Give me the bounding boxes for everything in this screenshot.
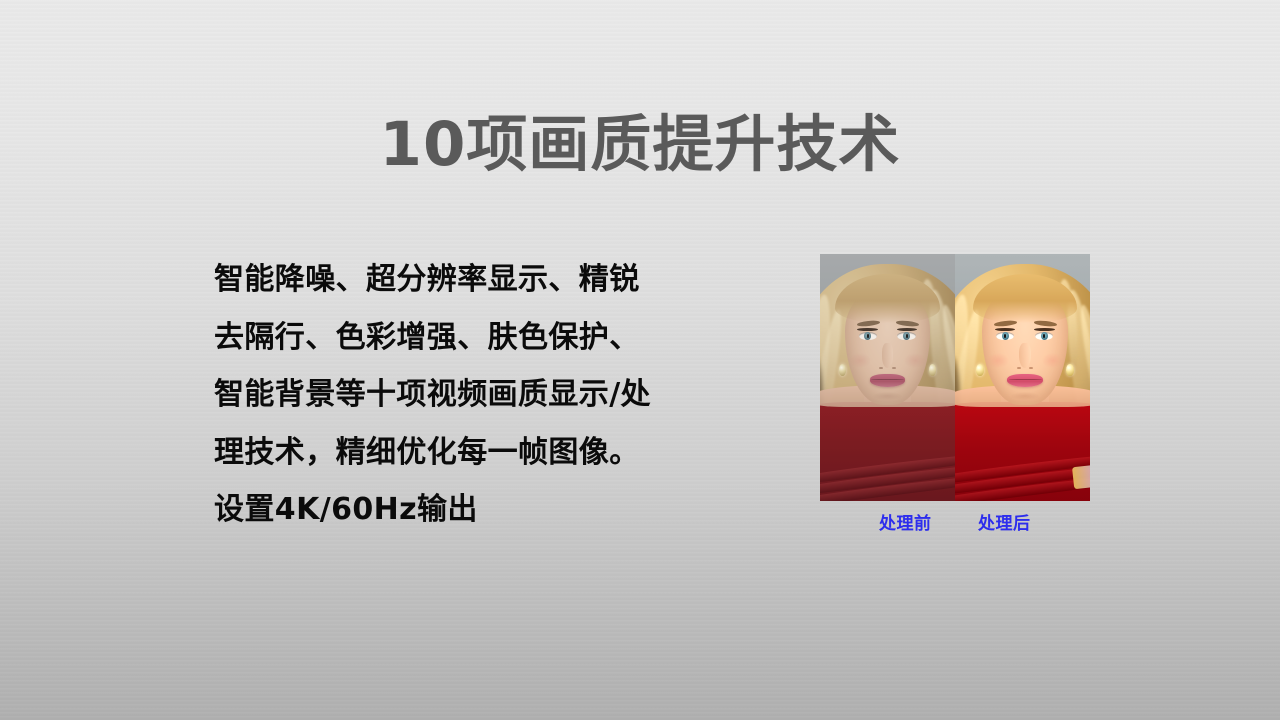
photo-before [820,254,955,501]
nose-shape [1019,343,1031,368]
body-line-2: 去隔行、色彩增强、肤色保护、 [214,309,714,367]
nostril-left [879,367,883,369]
lips-shape [1007,374,1043,387]
cheek-right [1042,353,1063,368]
earring-right [1066,364,1074,376]
cheek-right [904,353,925,368]
lips-shape [870,374,906,387]
pupil-icon [1004,334,1006,338]
body-line-4: 理技术，精细优化每一帧图像。 [214,424,714,482]
eye-right [1035,332,1053,340]
caption-row: 处理前 处理后 [820,509,1090,535]
eyelash-right [1034,328,1054,331]
red-dress-shape [820,402,955,501]
iris-icon [1041,332,1049,340]
photo-after [955,254,1090,501]
chin-shadow [873,392,902,399]
slide-canvas: 10项画质提升技术 智能降噪、超分辨率显示、精锐 去隔行、色彩增强、肤色保护、 … [0,0,1280,720]
body-line-5: 设置4K/60Hz输出 [214,481,714,539]
cheek-left [987,353,1008,368]
comparison-figure: 处理前 处理后 [820,254,1090,535]
body-line-3: 智能背景等十项视频画质显示/处 [214,366,714,424]
eyelash-left [995,328,1015,331]
eyelash-left [857,328,877,331]
portrait-illustration [820,254,955,501]
portrait-illustration [955,254,1090,501]
iris-icon [864,332,872,340]
page-title: 10项画质提升技术 [0,113,1280,177]
caption-before-label: 处理前 [879,509,932,534]
nose-shape [882,343,894,368]
eye-right [897,332,915,340]
nostril-right [1029,367,1033,369]
eyelash-right [897,328,917,331]
pupil-icon [906,334,908,338]
portrait-comparison-photo [820,254,1090,501]
pupil-icon [867,334,869,338]
eye-left [996,332,1014,340]
eye-left [859,332,877,340]
nostril-left [1017,367,1021,369]
body-paragraph: 智能降噪、超分辨率显示、精锐 去隔行、色彩增强、肤色保护、 智能背景等十项视频画… [214,251,714,539]
body-line-1: 智能降噪、超分辨率显示、精锐 [214,251,714,309]
iris-icon [903,332,911,340]
nostril-right [892,367,896,369]
caption-after-label: 处理后 [978,509,1031,534]
pupil-icon [1043,334,1045,338]
cheek-left [849,353,870,368]
red-dress-shape [955,402,1090,501]
chin-shadow [1011,392,1040,399]
iris-icon [1002,332,1010,340]
